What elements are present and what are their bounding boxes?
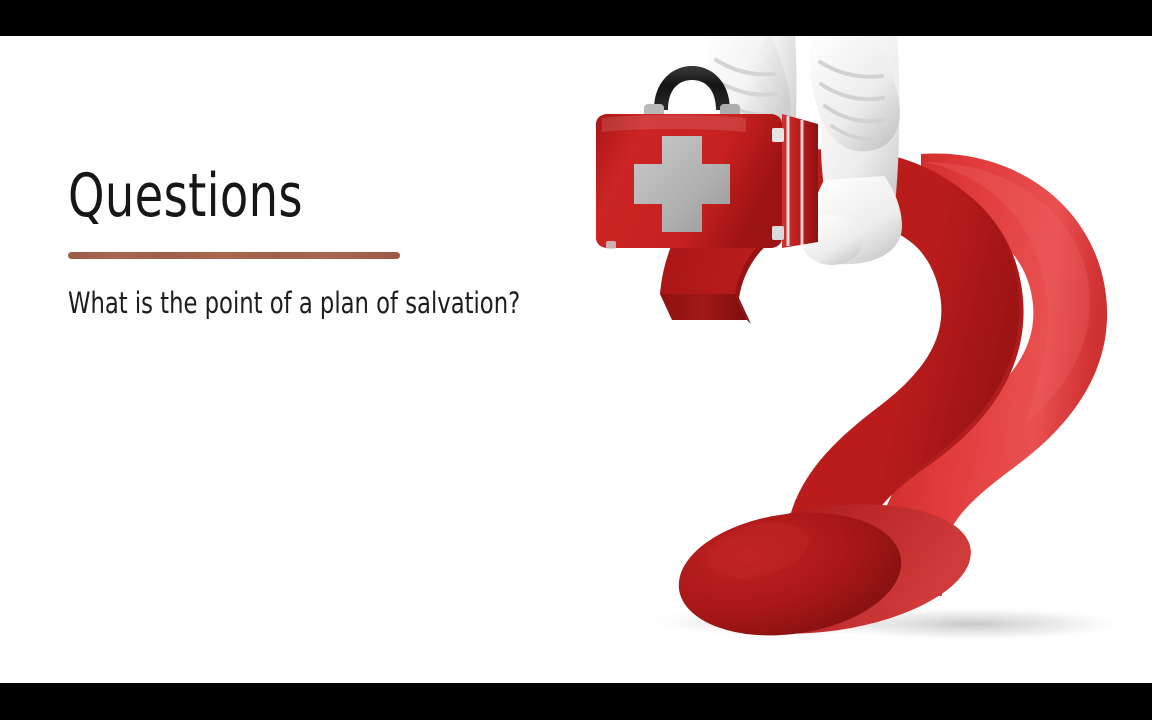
question-mark-illustration <box>576 36 1152 683</box>
page-title: Questions <box>68 166 498 226</box>
letterbox-top <box>0 0 1152 36</box>
letterbox-bottom <box>0 683 1152 720</box>
slide-canvas: Questions What is the point of a plan of… <box>0 36 1152 683</box>
title-underline-rule <box>68 252 400 259</box>
kit-foot-left <box>606 241 616 249</box>
kit-latch-top <box>772 128 784 142</box>
slide-text-block: Questions What is the point of a plan of… <box>68 166 568 320</box>
slide-subtitle: What is the point of a plan of salvation… <box>68 287 503 320</box>
question-mark-left-terminal-face <box>660 294 747 320</box>
slide-root: Questions What is the point of a plan of… <box>0 0 1152 720</box>
kit-latch-bottom <box>772 226 784 240</box>
